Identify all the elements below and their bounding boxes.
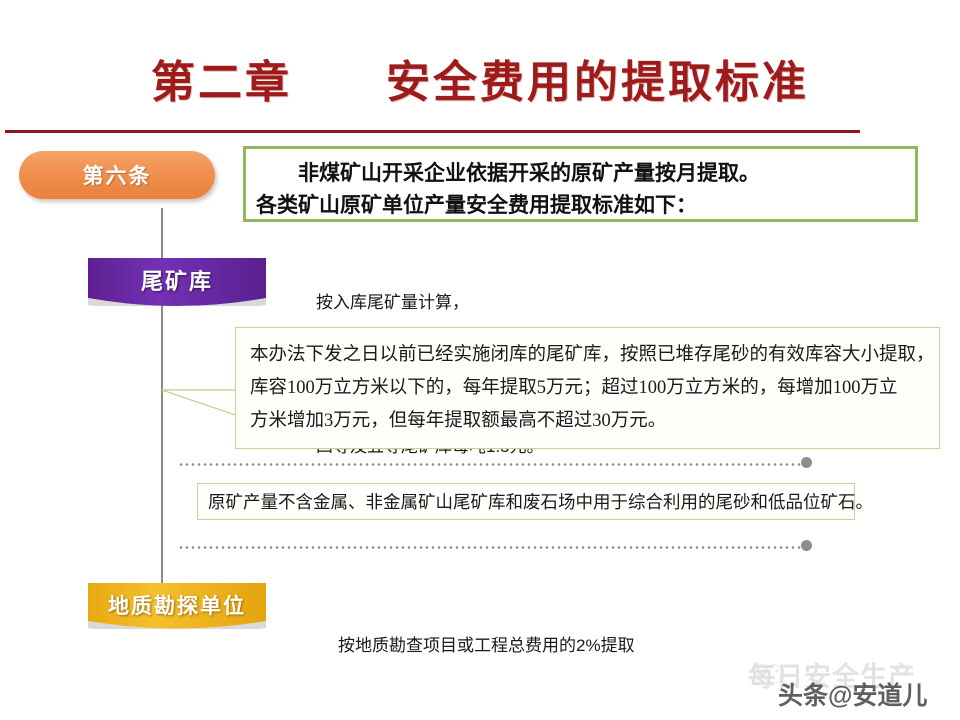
dotted-separator-lower-cap [801, 540, 812, 551]
intro-statement-line-2: 各类矿山原矿单位产量安全费用提取标准如下： [256, 189, 905, 221]
ore-output-exclusion-text: 原矿产量不含金属、非金属矿山尾矿库和废石场中用于综合利用的尾砂和低品位矿石。 [208, 489, 844, 515]
page-title-text: 第二章 安全费用的提取标准 [151, 58, 809, 107]
intro-statement-box: 非煤矿山开采企业依据开采的原矿产量按月提取。 各类矿山原矿单位产量安全费用提取标… [243, 146, 918, 222]
tailings-pond-rate-line-1: 按入库尾矿量计算， [316, 291, 563, 315]
section-banner-tailings-pond-label: 尾矿库 [141, 264, 213, 296]
article-number-badge-label: 第六条 [83, 160, 152, 190]
dotted-separator-lower [178, 546, 803, 549]
closed-tailings-pond-detail-line-2: 库容100万立方米以下的，每年提取5万元；超过100万立方米的，每增加100万立 [250, 372, 925, 405]
intro-statement-line-1: 非煤矿山开采企业依据开采的原矿产量按月提取。 [256, 157, 905, 189]
page-title: 第二章 安全费用的提取标准 [0, 50, 960, 120]
closed-tailings-pond-detail-box: 本办法下发之日以前已经实施闭库的尾矿库，按照已堆存尾砂的有效库容大小提取， 库容… [235, 327, 940, 449]
section-banner-geological-survey-unit[interactable]: 地质勘探单位 [88, 583, 266, 629]
ore-output-exclusion-box: 原矿产量不含金属、非金属矿山尾矿库和废石场中用于综合利用的尾砂和低品位矿石。 [197, 483, 855, 520]
dotted-separator-upper-cap [801, 457, 812, 468]
article-number-badge[interactable]: 第六条 [19, 151, 215, 199]
channel-watermark-text: 头条@安道儿 [778, 676, 927, 712]
closed-tailings-pond-detail-line-1: 本办法下发之日以前已经实施闭库的尾矿库，按照已堆存尾砂的有效库容大小提取， [250, 339, 925, 372]
section-banner-geological-survey-unit-label: 地质勘探单位 [108, 590, 246, 620]
closed-tailings-pond-detail-line-3: 方米增加3万元，但每年提取额最高不超过30万元。 [250, 405, 925, 438]
slide-canvas: 第二章 安全费用的提取标准 第六条 非煤矿山开采企业依据开采的原矿产量按月提取。… [0, 0, 960, 720]
section-banner-tailings-pond[interactable]: 尾矿库 [88, 258, 266, 306]
title-divider-rule [5, 130, 860, 133]
geological-survey-rate-note: 按地质勘查项目或工程总费用的2%提取 [338, 586, 635, 706]
geological-survey-rate-line-1: 按地质勘查项目或工程总费用的2%提取 [338, 634, 635, 658]
